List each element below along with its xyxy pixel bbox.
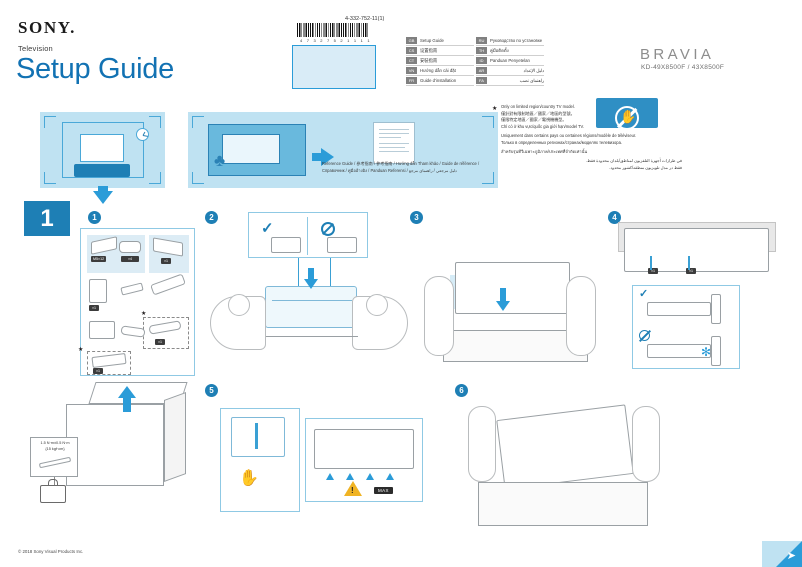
- part-tag-c: ×1: [89, 305, 99, 311]
- language-title: Setup Guide: [420, 38, 474, 43]
- screw-shaft: [255, 423, 258, 449]
- stand-leg-incorrect: [711, 336, 721, 366]
- room-placement-illustration: [40, 112, 165, 188]
- tv-stand-surface: [478, 482, 648, 526]
- screwdriver-icon: [39, 457, 71, 469]
- arrow-stem: [500, 288, 506, 302]
- reference-guide-illustration: ♣: [188, 112, 498, 188]
- toolbag-icon: [40, 485, 66, 503]
- sony-logo-dot: .: [70, 18, 76, 37]
- star-icon: ★: [78, 347, 83, 353]
- language-row: FA راهنمای نصب: [476, 77, 544, 86]
- leader-line: [298, 258, 299, 286]
- person-left-step3: [424, 276, 454, 356]
- note-line: Only on limited region/country TV model.: [501, 104, 692, 111]
- person-head-left: [228, 294, 250, 316]
- arrow-up-icon: [386, 473, 394, 480]
- part-number-label: 4-332-752-11(1): [345, 16, 384, 22]
- arrow-up-icon: [346, 473, 354, 480]
- screw-bag-silhouette: [119, 241, 141, 253]
- language-code: GB: [406, 37, 417, 44]
- corner-mark: [192, 116, 204, 128]
- corner-mark: [192, 172, 204, 184]
- remote-control-silhouette: [150, 274, 186, 296]
- sub-step-1-badge: 1: [88, 211, 101, 224]
- barcode-image: [297, 23, 369, 37]
- language-title: 安裝指南: [420, 58, 474, 64]
- language-code: ID: [476, 57, 487, 64]
- part-tag-screw-size: M5×12: [91, 256, 106, 262]
- prohibited-icon: [639, 330, 650, 341]
- panel-divider: [307, 217, 308, 255]
- language-code: VN: [406, 67, 417, 74]
- language-code: FR: [406, 77, 417, 84]
- tv-laid-flat-illustration: [265, 286, 357, 328]
- step-1-badge: 1: [24, 201, 70, 236]
- step-2-inset-panel: ✓: [248, 212, 368, 258]
- power-cord-silhouette: [120, 325, 145, 337]
- corner-mark: [44, 116, 56, 128]
- language-title: 设置指南: [420, 48, 474, 54]
- sub-step-6-badge: 6: [455, 384, 468, 397]
- table-edge: [272, 300, 352, 301]
- plant-icon: ♣: [214, 152, 230, 178]
- bravia-brand-label: BRAVIA: [640, 46, 714, 63]
- limited-region-note: ★ Only on limited region/country TV mode…: [492, 104, 692, 171]
- note-line: Uniquement dans certains pays ou certain…: [501, 133, 692, 140]
- language-list-right: RU Руководство по установке TH คู่มือติด…: [476, 37, 544, 87]
- language-row: ID Panduan Penyetelan: [476, 57, 544, 66]
- language-title: Руководство по установке: [490, 38, 544, 43]
- language-row: CT 安裝指南: [406, 57, 474, 66]
- language-title: คู่มือติดตั้ง: [490, 47, 544, 54]
- reference-guide-caption: Reference Guide / 参考指南 / 參考指南 / Hướng dẫ…: [322, 161, 498, 174]
- arrow-stem: [123, 398, 131, 412]
- arrow-up-icon: [118, 386, 136, 398]
- leader-line: [330, 258, 331, 286]
- note-line: Только в определенных регионах/странах/м…: [501, 140, 692, 147]
- torque-spec-text: 1.5 N·m±0.5 N·m {15 kgf·cm}: [34, 441, 76, 452]
- language-title: دليل الإعداد: [490, 68, 544, 74]
- torque-line-2: {15 kgf·cm}: [34, 447, 76, 453]
- arrow-up-icon: [326, 473, 334, 480]
- tv-stand-shape: [74, 164, 130, 177]
- check-icon: ✓: [639, 289, 648, 300]
- page-title: Setup Guide: [16, 53, 174, 86]
- battery-silhouette: [120, 282, 143, 295]
- arrow-down-icon: [304, 279, 318, 289]
- manual-book-icon: [373, 122, 415, 164]
- tv-edge-grip-incorrect: [327, 237, 357, 253]
- page-turn-glyph: ➤: [787, 551, 796, 562]
- part-tag-screw-qty: ×4: [121, 256, 139, 262]
- person-right-step6: [632, 406, 660, 482]
- page-turn-indicator: ➤: [760, 535, 802, 567]
- manual-silhouette: [89, 279, 107, 303]
- impact-spark-icon: ✻: [701, 346, 711, 358]
- barcode-digits: 4 7 3 2 7 5 2 1 1 1 1: [300, 38, 371, 43]
- language-code: TH: [476, 47, 487, 54]
- sony-logo: SONY.: [18, 18, 76, 38]
- note-line: สำหรับรุ่นทีวีเฉพาะภูมิภาค/ประเทศที่จำกั…: [501, 149, 692, 156]
- language-row: RU Руководство по установке: [476, 37, 544, 46]
- stand-leg-correct: [711, 294, 721, 324]
- language-row: AR دليل الإعداد: [476, 67, 544, 76]
- torque-spec-box: 1.5 N·m±0.5 N·m {15 kgf·cm}: [30, 437, 78, 477]
- sub-step-5-badge: 5: [205, 384, 218, 397]
- language-code: FA: [476, 77, 487, 84]
- check-icon: ✓: [261, 221, 274, 236]
- step-4-inset-panel: ✓ ✻: [632, 285, 740, 369]
- tv-screen-area: [222, 134, 280, 164]
- part-tag-e: ×1: [93, 368, 103, 374]
- prohibited-icon: [321, 222, 335, 236]
- arrow-up-icon: [366, 473, 374, 480]
- language-list-left: GB Setup Guide CS 设置指南 CT 安裝指南 VN Hướng …: [406, 37, 474, 87]
- leg-insert-marker: [688, 256, 690, 270]
- model-number-label: KD-49X8500F / 43X8500F: [641, 64, 724, 71]
- person-head-right: [366, 294, 388, 316]
- person-right-step3: [566, 276, 596, 356]
- corner-mark: [149, 172, 161, 184]
- tv-lifted-illustration: [496, 404, 634, 489]
- tv-back-panel: [314, 429, 414, 469]
- product-category-label: Television: [18, 44, 53, 53]
- sony-wordmark: SONY: [18, 18, 70, 37]
- note-line: 僅限特定地區／國家／電視機機型。: [501, 117, 692, 124]
- person-left-step6: [468, 406, 496, 482]
- language-title: راهنمای نصب: [490, 78, 544, 84]
- corner-mark: [44, 172, 56, 184]
- language-title: Hướng dẫn cài đặt: [420, 68, 474, 73]
- parts-inventory-panel: M5×12 ×4 ×1 ×1 ★ ×1 ★ ×1: [80, 228, 195, 376]
- carton-side-panel: [164, 392, 186, 482]
- language-row: GB Setup Guide: [406, 37, 474, 46]
- sub-step-2-badge: 2: [205, 211, 218, 224]
- max-torque-label: MAX: [374, 487, 393, 494]
- warning-exclamation: !: [351, 487, 354, 495]
- language-code: RU: [476, 37, 487, 44]
- clock-icon: [136, 128, 149, 141]
- tv-edge-grip-correct: [271, 237, 301, 253]
- language-code: AR: [476, 67, 487, 74]
- arrow-down-icon: [496, 301, 510, 311]
- language-row: FR Guide d'installation: [406, 77, 474, 86]
- sub-step-3-badge: 3: [410, 211, 423, 224]
- language-code: CS: [406, 47, 417, 54]
- corner-mark: [149, 116, 161, 128]
- arrow-down-icon: [93, 191, 113, 204]
- hand-icon: ✋: [239, 471, 259, 487]
- language-row: VN Hướng dẫn cài đặt: [406, 67, 474, 76]
- part-tag-b: ×1: [161, 258, 171, 264]
- corner-mark: [482, 116, 494, 128]
- note-line-rtl: فقط در مدل تلویزیون منطقه/کشور محدود.: [492, 165, 682, 172]
- step-5-main-panel: ! MAX: [305, 418, 423, 502]
- tv-with-legs-illustration: [624, 228, 769, 272]
- no-touch-screen-illustration: ✋: [292, 45, 376, 89]
- note-line-rtl: في طرازات أجهزة التلفزيون لمناطق/بلدان م…: [492, 158, 682, 165]
- language-row: TH คู่มือติดตั้ง: [476, 47, 544, 56]
- screw-close-up: [231, 417, 285, 457]
- carton-body: [66, 404, 164, 486]
- star-icon: ★: [492, 105, 497, 112]
- part-tag-d: ×1: [155, 339, 165, 345]
- tv-correct-orientation: [647, 302, 711, 316]
- language-row: CS 设置指南: [406, 47, 474, 56]
- copyright-notice: © 2018 Sony Visual Products Inc.: [18, 549, 83, 554]
- language-code: CT: [406, 57, 417, 64]
- step-5-inset-panel: ✋: [220, 408, 300, 512]
- tv-face-down-illustration: [455, 262, 570, 314]
- language-title: Panduan Penyetelan: [490, 58, 544, 63]
- ac-adapter-silhouette: [89, 321, 115, 339]
- leg-insert-marker: [650, 256, 652, 270]
- note-line: Chỉ có ở khu vực/quốc gia giới hạn/model…: [501, 124, 692, 131]
- language-title: Guide d'installation: [420, 78, 474, 83]
- table-edge: [266, 336, 358, 337]
- tv-on-stand-icon: [80, 134, 124, 162]
